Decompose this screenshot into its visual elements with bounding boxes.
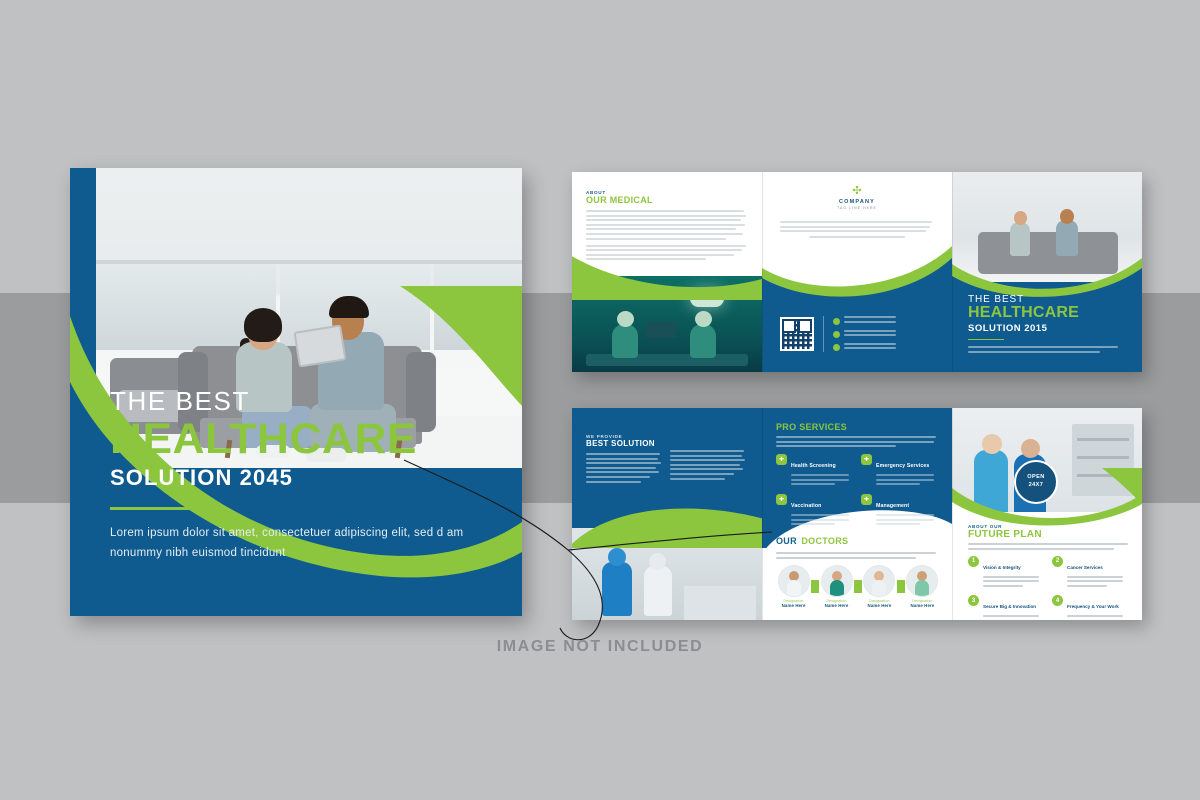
brochure-cover[interactable]: THE BEST HEALTHCARE SOLUTION 2045 Lorem …	[70, 168, 522, 616]
ambulance-icon: ✚	[861, 454, 872, 465]
cover-line2: HEALTHCARE	[110, 418, 491, 462]
best-solution-heading: BEST SOLUTION	[586, 439, 662, 448]
location-icon	[833, 344, 840, 351]
plan-number: 3	[968, 595, 979, 606]
mockup-stage: THE BEST HEALTHCARE SOLUTION 2045 Lorem …	[0, 0, 1200, 800]
brochure-spread-bottom[interactable]: WE PROVIDE BEST SOLUTION	[572, 408, 1142, 620]
spread-bottom-left-panel[interactable]: WE PROVIDE BEST SOLUTION	[572, 408, 762, 620]
best-solution-col	[670, 434, 746, 485]
contact-row[interactable]	[833, 316, 896, 325]
caption-image-not-included: IMAGE NOT INCLUDED	[0, 638, 1200, 656]
fold-divider	[762, 408, 763, 620]
doctors-heading-prefix: OUR	[776, 536, 797, 546]
future-plan-heading: FUTURE PLAN	[968, 529, 1128, 540]
lab-worker-figure	[644, 566, 672, 616]
syringe-icon: ✚	[776, 494, 787, 505]
contact-list	[833, 316, 896, 352]
spread-bottom-middle-panel[interactable]: PRO SERVICES ✚ Health Screening ✚ Emerge…	[762, 408, 952, 620]
operating-table	[586, 354, 748, 366]
logo-mark-icon: ✣	[797, 186, 917, 197]
about-block: ABOUT OUR MEDICAL	[586, 190, 748, 263]
lab-worker-figure	[602, 562, 632, 616]
spread-bottom-right-panel[interactable]: OPEN 24X7 ABOUT OUR FUTURE PLAN 1 Vision…	[952, 408, 1142, 620]
back-cover-text: THE BEST HEALTHCARE SOLUTION 2015	[968, 294, 1128, 356]
back-divider	[968, 339, 1004, 341]
cover-text-block: THE BEST HEALTHCARE SOLUTION 2045 Lorem …	[110, 388, 480, 564]
back-line3: SOLUTION 2015	[968, 323, 1128, 334]
avatar	[906, 565, 938, 597]
fold-divider	[952, 408, 953, 620]
person-woman-hair	[244, 308, 282, 342]
spread-top-right-panel[interactable]: THE BEST HEALTHCARE SOLUTION 2015	[952, 172, 1142, 372]
service-title: Health Screening	[791, 463, 836, 469]
cover-line1: THE BEST	[110, 388, 480, 415]
avatar	[863, 565, 895, 597]
doctors-heading: DOCTORS	[801, 536, 848, 546]
best-solution-col: WE PROVIDE BEST SOLUTION	[586, 434, 662, 485]
plan-item[interactable]: 1 Vision & Integrity	[968, 556, 1044, 590]
service-title: Emergency Services	[876, 463, 929, 469]
fold-divider	[952, 172, 953, 372]
service-title: Vaccination	[791, 503, 821, 509]
cover-divider	[110, 507, 190, 510]
cover-line3: SOLUTION 2045	[110, 465, 480, 491]
doctor-card[interactable]: Designation Name Here	[776, 565, 811, 608]
pro-services-heading: PRO SERVICES	[776, 422, 938, 432]
qr-code[interactable]	[780, 317, 814, 351]
our-doctors-block: OUR DOCTORS Designation Name Here Des	[776, 531, 940, 608]
spread-top-middle-panel[interactable]: ✣ COMPANY TAG LINE HERE	[762, 172, 952, 372]
avatar	[778, 565, 810, 597]
doctor-name: Name Here	[905, 603, 940, 608]
back-line2: HEALTHCARE	[968, 305, 1128, 322]
divider	[897, 580, 905, 593]
doctor-card[interactable]: Designation Name Here	[819, 565, 854, 608]
badge-line2: 24X7	[1029, 482, 1044, 490]
company-logo: ✣ COMPANY TAG LINE HERE	[797, 186, 917, 210]
services-grid: ✚ Health Screening ✚ Emergency Services …	[776, 454, 938, 528]
doctor-name: Name Here	[776, 603, 811, 608]
vertical-rule	[823, 316, 824, 352]
brochure-spread-top[interactable]: ABOUT OUR MEDICAL	[572, 172, 1142, 372]
about-body	[586, 210, 748, 260]
service-item[interactable]: ✚ Health Screening	[776, 454, 853, 488]
plan-title: Frequency & Your Work	[1067, 604, 1119, 609]
about-heading: OUR MEDICAL	[586, 195, 748, 205]
instrument-tray	[646, 322, 676, 338]
plan-number: 2	[1052, 556, 1063, 567]
open-24x7-badge: OPEN 24X7	[1014, 460, 1058, 504]
avatar	[821, 565, 853, 597]
contact-block	[780, 316, 938, 352]
window-pane	[434, 264, 522, 350]
doctors-heading-row: OUR DOCTORS	[776, 531, 940, 549]
plan-item[interactable]: 2 Cancer Services	[1052, 556, 1128, 590]
badge-line1: OPEN	[1027, 474, 1044, 482]
divider	[811, 580, 819, 593]
spread-top-left-panel[interactable]: ABOUT OUR MEDICAL	[572, 172, 762, 372]
surgeon-figure	[690, 324, 716, 358]
doctors-intro	[776, 552, 940, 559]
contact-row[interactable]	[833, 330, 896, 339]
doctor-card[interactable]: Designation Name Here	[905, 565, 940, 608]
service-item[interactable]: ✚ Vaccination	[776, 494, 853, 528]
logo-tagline: TAG LINE HERE	[797, 206, 917, 210]
plan-title: Vision & Integrity	[983, 565, 1021, 570]
service-title: Management	[876, 503, 909, 509]
doctors-list: Designation Name Here Designation Name H…	[776, 565, 940, 608]
doctor-name: Name Here	[862, 603, 897, 608]
pro-services-intro	[776, 436, 938, 447]
plan-title: Secure Big & Innovation	[983, 604, 1036, 609]
plan-title: Cancer Services	[1067, 565, 1103, 570]
mail-icon	[833, 331, 840, 338]
phone-icon	[833, 318, 840, 325]
plan-number: 1	[968, 556, 979, 567]
middle-body-text	[780, 221, 934, 238]
future-plan-block: ABOUT OUR FUTURE PLAN 1 Vision & Integri…	[968, 524, 1128, 620]
surgeon-figure	[612, 324, 638, 358]
plan-item[interactable]: 3 Secure Big & Innovation	[968, 595, 1044, 620]
plans-grid: 1 Vision & Integrity 2 Cancer Services 3…	[968, 556, 1128, 620]
divider	[854, 580, 862, 593]
green-curve-shape	[572, 500, 762, 548]
fold-divider	[762, 172, 763, 372]
back-description	[968, 346, 1128, 353]
clipboard-icon: ✚	[861, 494, 872, 505]
doctor-name: Name Here	[819, 603, 854, 608]
future-plan-intro	[968, 543, 1128, 550]
logo-company-name: COMPANY	[797, 199, 917, 205]
doctor-card[interactable]: Designation Name Here	[862, 565, 897, 608]
plan-item[interactable]: 4 Frequency & Your Work	[1052, 595, 1128, 620]
stethoscope-icon: ✚	[776, 454, 787, 465]
contact-row[interactable]	[833, 343, 896, 352]
cover-description: Lorem ipsum dolor sit amet, consectetuer…	[110, 524, 480, 564]
lab-desk	[684, 586, 756, 620]
pro-services-block: PRO SERVICES ✚ Health Screening ✚ Emerge…	[776, 422, 938, 528]
service-item[interactable]: ✚ Emergency Services	[861, 454, 938, 488]
best-solution-block: WE PROVIDE BEST SOLUTION	[586, 434, 748, 485]
tablet-device	[293, 324, 346, 367]
service-item[interactable]: ✚ Management	[861, 494, 938, 528]
plan-number: 4	[1052, 595, 1063, 606]
